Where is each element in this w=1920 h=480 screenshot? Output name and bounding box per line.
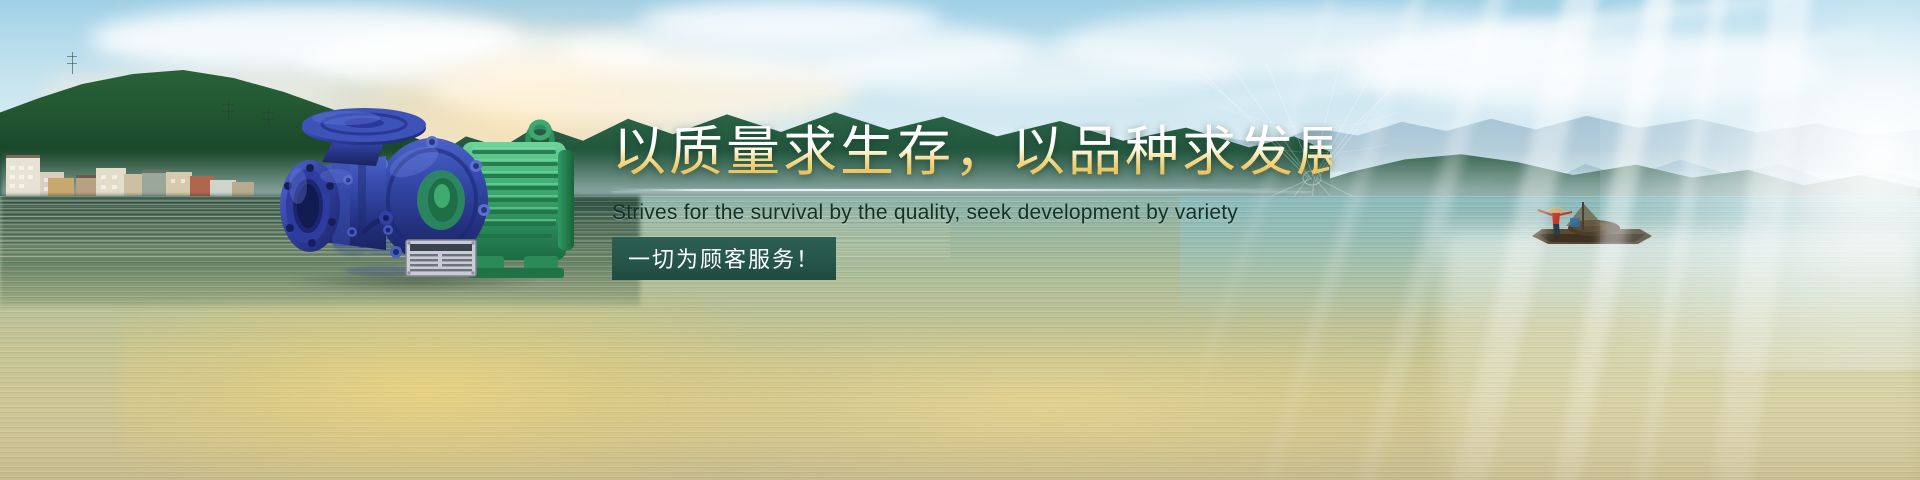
service-badge: 一切为顾客服务！ (612, 237, 836, 280)
page-title: 以质量求生存，以品种求发展 (612, 124, 1332, 181)
divider-rule (612, 189, 1312, 191)
cloud-bank (640, 0, 940, 42)
centrifugal-pump (236, 100, 596, 300)
power-pylon (228, 100, 229, 120)
village-building (76, 175, 98, 196)
riverside-village (0, 140, 260, 200)
banner-copy: 以质量求生存，以品种求发展 Strives for the survival b… (612, 124, 1332, 280)
hero-banner: 以质量求生存，以品种求发展 Strives for the survival b… (0, 0, 1920, 480)
village-building (6, 155, 40, 196)
power-pylon (72, 52, 73, 74)
banner-subtitle: Strives for the survival by the quality,… (612, 201, 1332, 225)
village-building (96, 168, 126, 198)
motor-nameplate (406, 240, 476, 276)
